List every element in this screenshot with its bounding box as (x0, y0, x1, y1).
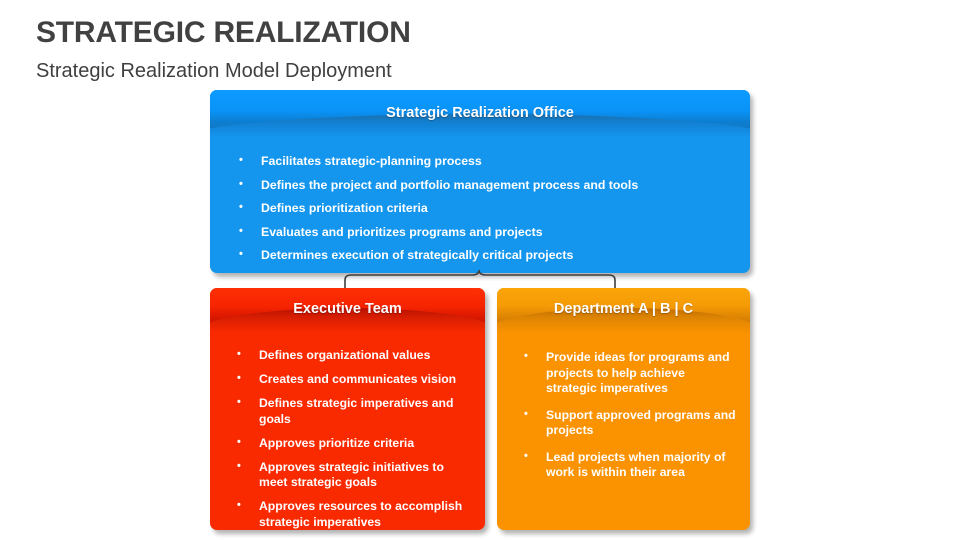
list-item: Approves strategic initiatives to meet s… (236, 460, 471, 491)
card-strategic-realization-office[interactable]: Strategic Realization Office Facilitates… (210, 90, 750, 273)
list-item: Approves prioritize criteria (236, 436, 471, 452)
list-item: Provide ideas for programs and projects … (523, 350, 736, 397)
card-executive-team[interactable]: Executive Team Defines organizational va… (210, 288, 485, 530)
card-header-strategic-realization-office: Strategic Realization Office (210, 90, 750, 140)
bullet-list-executive: Defines organizational values Creates an… (236, 348, 471, 530)
card-body-executive-team: Defines organizational values Creates an… (210, 334, 485, 530)
page-title: STRATEGIC REALIZATION (36, 16, 411, 50)
bullet-list-department: Provide ideas for programs and projects … (523, 350, 736, 481)
bullet-list-office: Facilitates strategic-planning process D… (238, 154, 730, 263)
list-item: Defines strategic imperatives and goals (236, 396, 471, 427)
card-body-department-abc: Provide ideas for programs and projects … (497, 334, 750, 481)
list-item: Facilitates strategic-planning process (238, 154, 730, 169)
list-item: Defines the project and portfolio manage… (238, 178, 730, 193)
list-item: Approves resources to accomplish strateg… (236, 499, 471, 530)
page-subtitle: Strategic Realization Model Deployment (36, 60, 392, 83)
list-item: Support approved programs and projects (523, 408, 736, 439)
list-item: Defines organizational values (236, 348, 471, 364)
card-header-executive-team: Executive Team (210, 288, 485, 334)
list-item: Lead projects when majority of work is w… (523, 450, 736, 481)
card-department-abc[interactable]: Department A | B | C Provide ideas for p… (497, 288, 750, 530)
card-body-strategic-realization-office: Facilitates strategic-planning process D… (210, 140, 750, 263)
list-item: Determines execution of strategically cr… (238, 248, 730, 263)
list-item: Evaluates and prioritizes programs and p… (238, 225, 730, 240)
list-item: Defines prioritization criteria (238, 201, 730, 216)
card-header-department-abc: Department A | B | C (497, 288, 750, 334)
list-item: Creates and communicates vision (236, 372, 471, 388)
